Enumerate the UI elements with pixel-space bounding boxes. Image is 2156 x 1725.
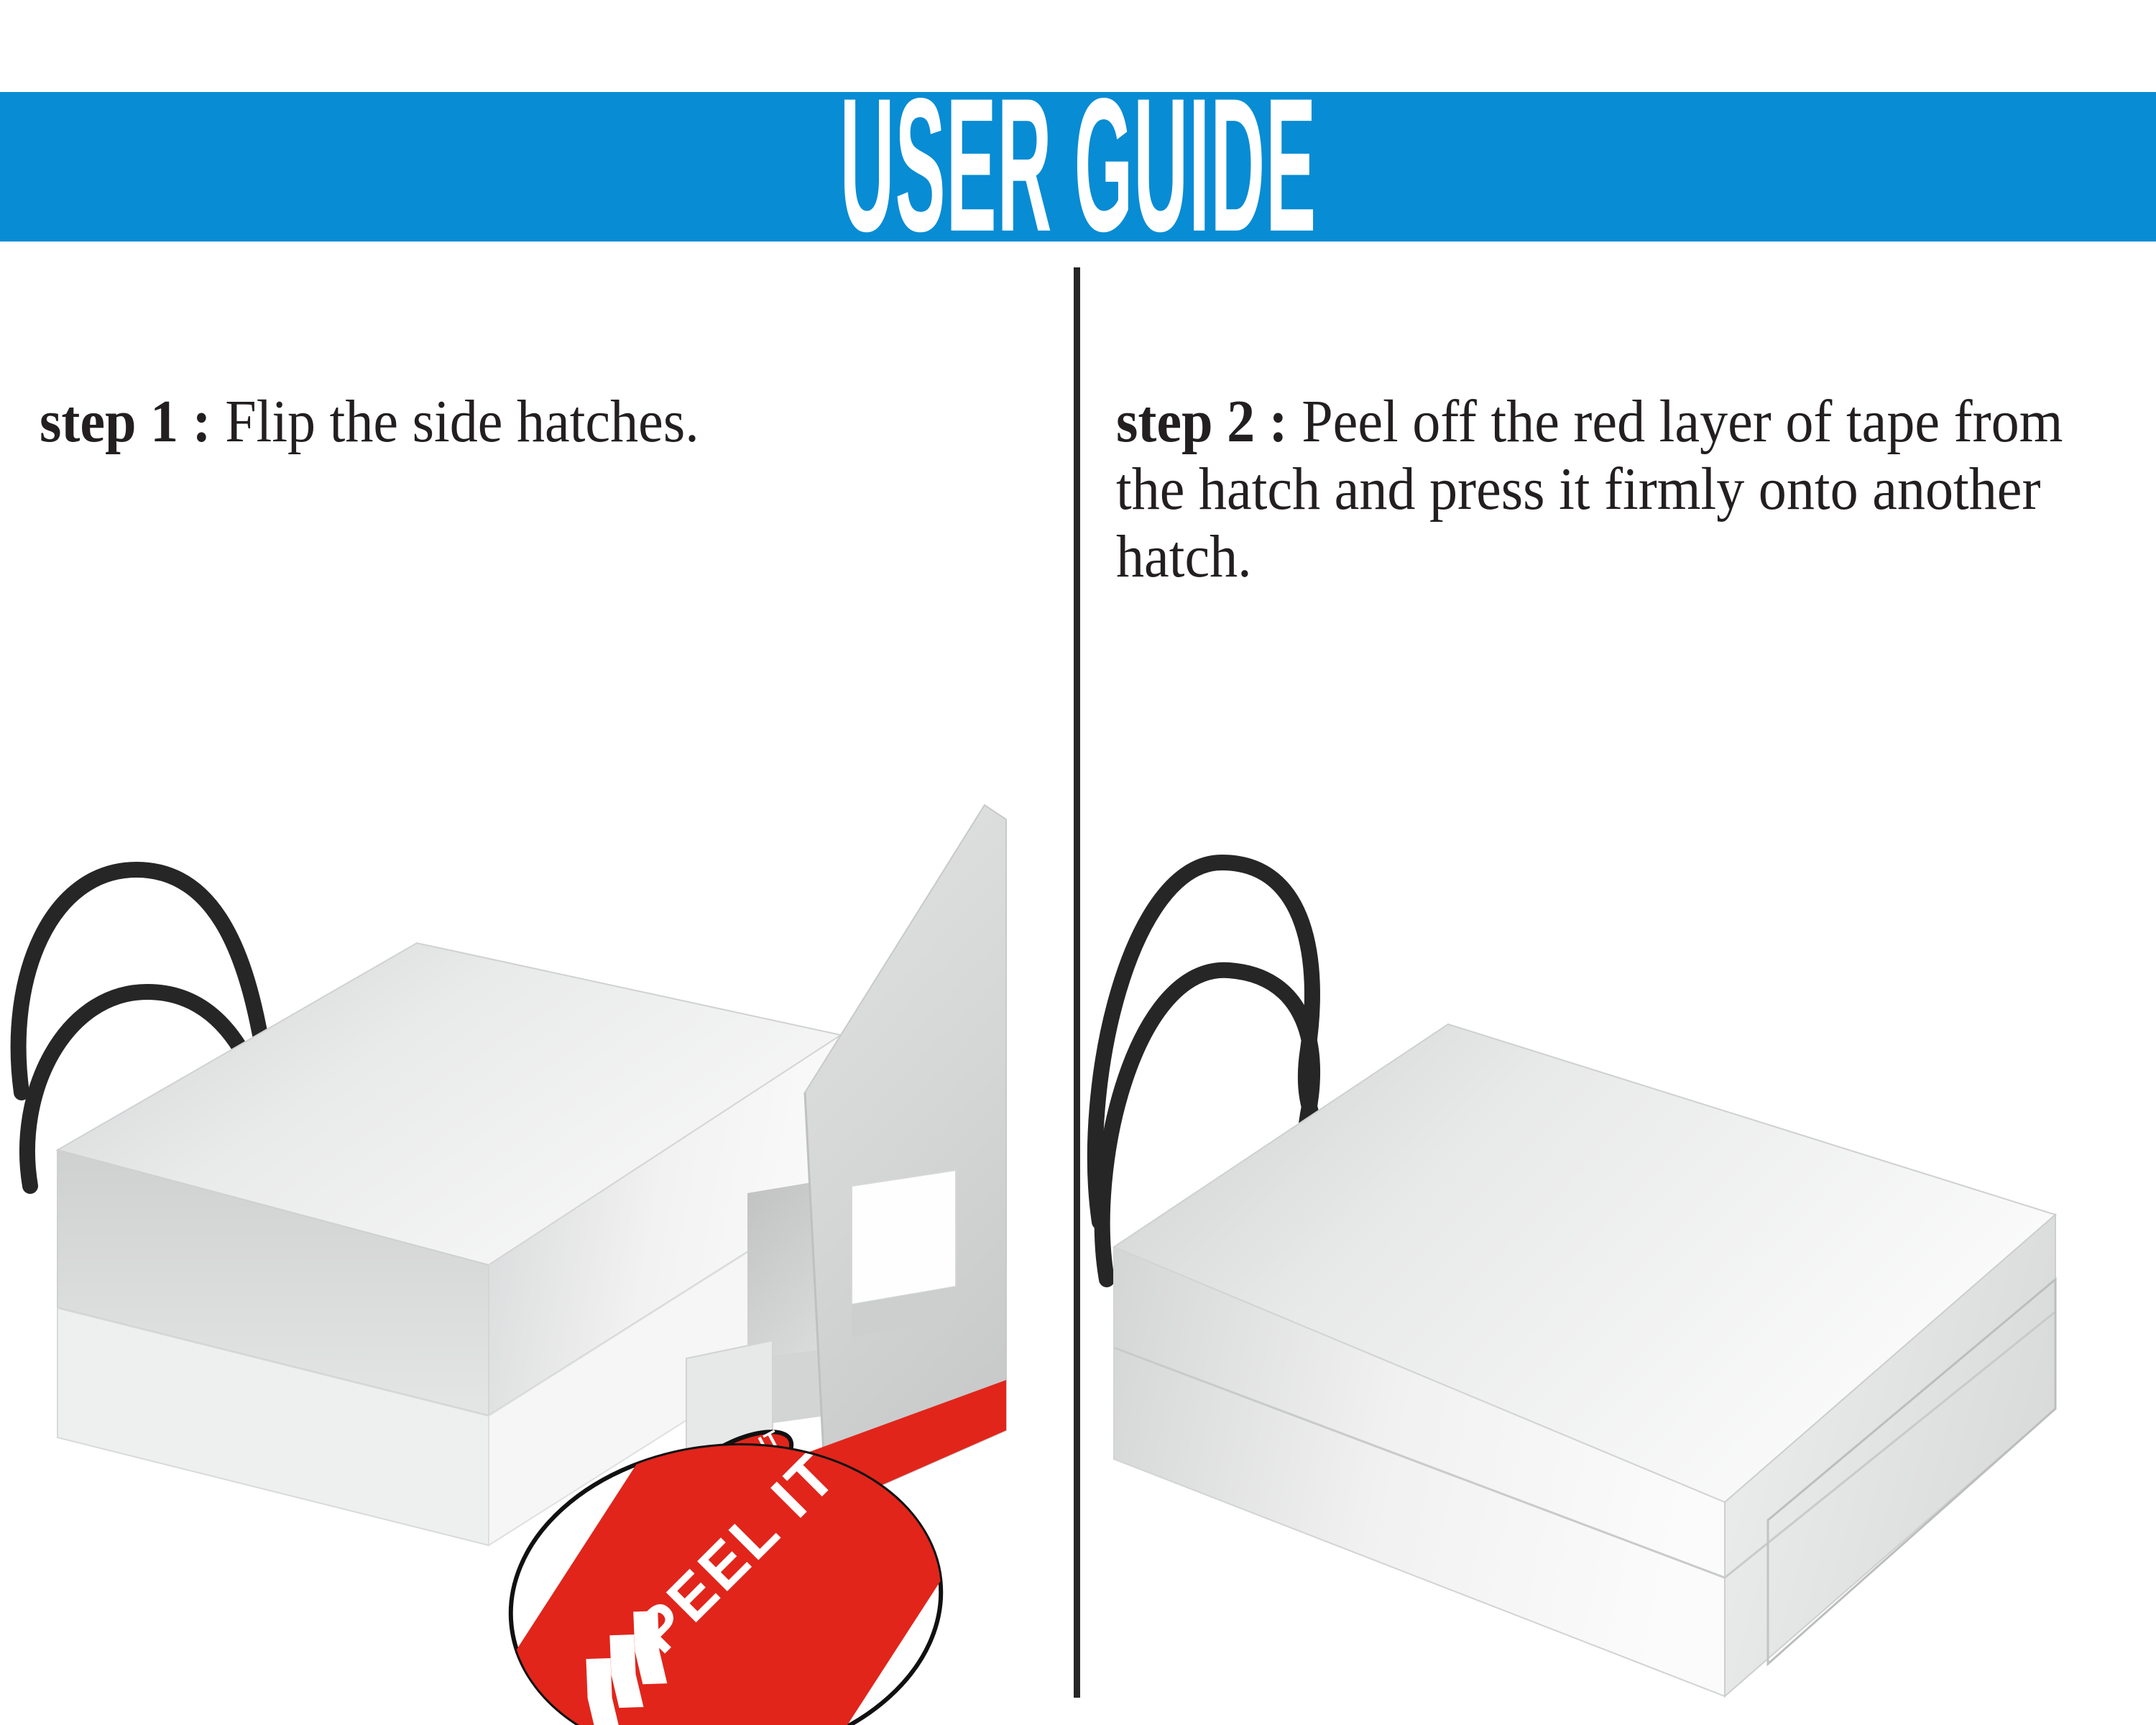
user-guide-page: USER GUIDE step 1 : Flip the side hatche… — [0, 0, 2156, 1725]
step-2-label: step 2 : — [1116, 388, 1288, 455]
step-1-text: Flip the side hatches. — [211, 388, 699, 455]
header-bar: USER GUIDE — [0, 92, 2156, 241]
page-title: USER GUIDE — [839, 70, 1316, 261]
step-1-illustration: PEEL IT — [0, 690, 1056, 1711]
step-1-label: step 1 : — [40, 388, 211, 455]
hatch-notch — [852, 1170, 956, 1305]
panel-divider — [1074, 267, 1080, 1698]
step-1-caption: step 1 : Flip the side hatches. — [40, 388, 962, 456]
step-2-illustration — [1092, 776, 2156, 1581]
step-2-caption: step 2 : Peel off the red layer of tape … — [1116, 388, 2119, 591]
